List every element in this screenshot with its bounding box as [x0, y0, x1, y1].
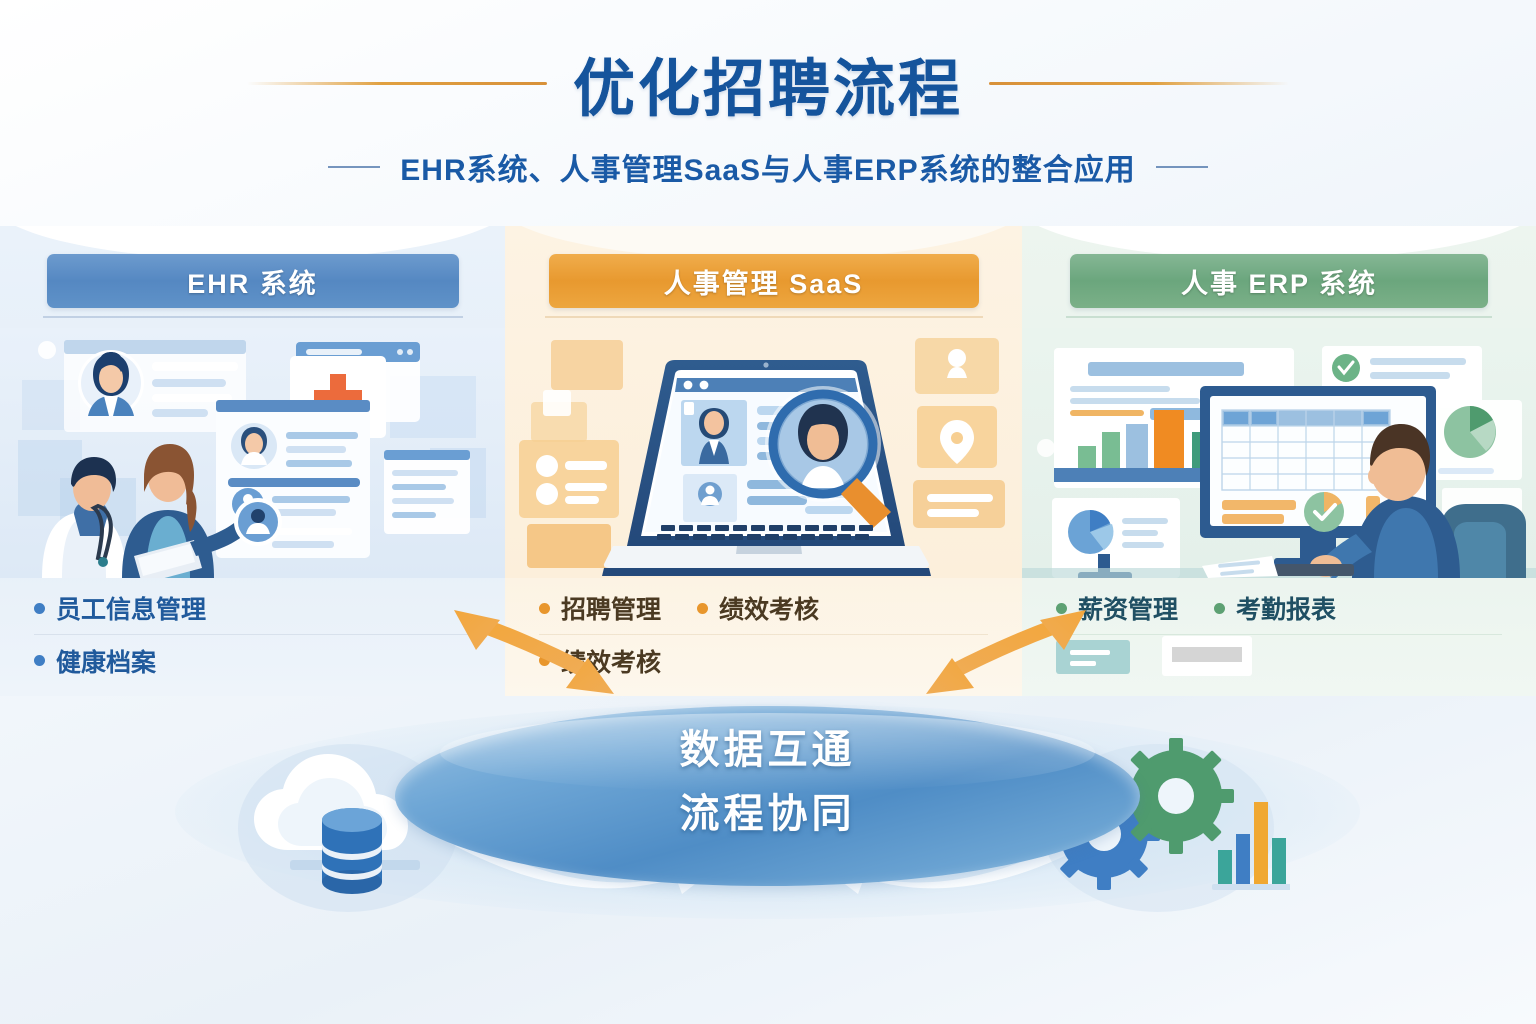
- bullet-item: 健康档案: [34, 643, 156, 679]
- page-title: 优化招聘流程: [573, 38, 963, 128]
- panel-header-underline: [1066, 316, 1492, 318]
- bullet-item: 员工信息管理: [34, 590, 206, 626]
- header-block: 优化招聘流程 EHR系统、人事管理SaaS与人事ERP系统的整合应用: [0, 0, 1536, 210]
- bullet-label: 考勤报表: [1236, 590, 1336, 626]
- illustration-ehr: [0, 328, 505, 578]
- erp-illustration-svg: [1022, 328, 1536, 578]
- bullet-dot-icon: [1214, 603, 1225, 614]
- panel-ehr[interactable]: EHR 系统: [0, 226, 505, 696]
- bullet-dot-icon: [34, 655, 45, 666]
- subtitle-dash-left: [328, 166, 380, 168]
- panels-row: EHR 系统: [0, 226, 1536, 696]
- bullet-label: 绩效考核: [719, 590, 819, 626]
- panel-header-underline: [545, 316, 983, 318]
- bullet-row: 薪资管理 考勤报表: [1056, 582, 1502, 634]
- bullet-label: 健康档案: [56, 643, 156, 679]
- title-row: 优化招聘流程: [0, 38, 1536, 128]
- subtitle-dash-right: [1156, 166, 1208, 168]
- integration-text: 数据互通 流程协同: [395, 688, 1140, 868]
- bullet-dot-icon: [34, 603, 45, 614]
- saas-illustration-svg: [505, 328, 1022, 578]
- integration-line-1: 数据互通: [680, 717, 856, 775]
- bullet-item: 绩效考核: [697, 590, 819, 626]
- panel-header-ehr: EHR 系统: [47, 254, 459, 308]
- panel-header-saas: 人事管理 SaaS: [549, 254, 979, 308]
- subtitle-row: EHR系统、人事管理SaaS与人事ERP系统的整合应用: [0, 142, 1536, 192]
- panel-header-underline: [43, 316, 463, 318]
- page-subtitle: EHR系统、人事管理SaaS与人事ERP系统的整合应用: [400, 145, 1135, 189]
- title-rule-right: [989, 82, 1289, 85]
- illustration-saas: [505, 328, 1022, 578]
- integration-section: 数据互通 流程协同: [0, 688, 1536, 958]
- title-rule-left: [247, 82, 547, 85]
- decorative-chip-blank: [1162, 636, 1252, 676]
- bullet-item: 考勤报表: [1214, 590, 1336, 626]
- bullet-label: 员工信息管理: [56, 590, 206, 626]
- integration-line-2: 流程协同: [680, 781, 856, 839]
- ehr-illustration-svg: [0, 328, 505, 578]
- bullets-ehr: 员工信息管理 健康档案: [0, 582, 505, 686]
- bullet-row: 员工信息管理: [34, 582, 471, 634]
- bullet-dot-icon: [697, 603, 708, 614]
- panel-header-erp: 人事 ERP 系统: [1070, 254, 1488, 308]
- illustration-erp: [1022, 328, 1536, 578]
- bullet-row: 健康档案: [34, 634, 471, 686]
